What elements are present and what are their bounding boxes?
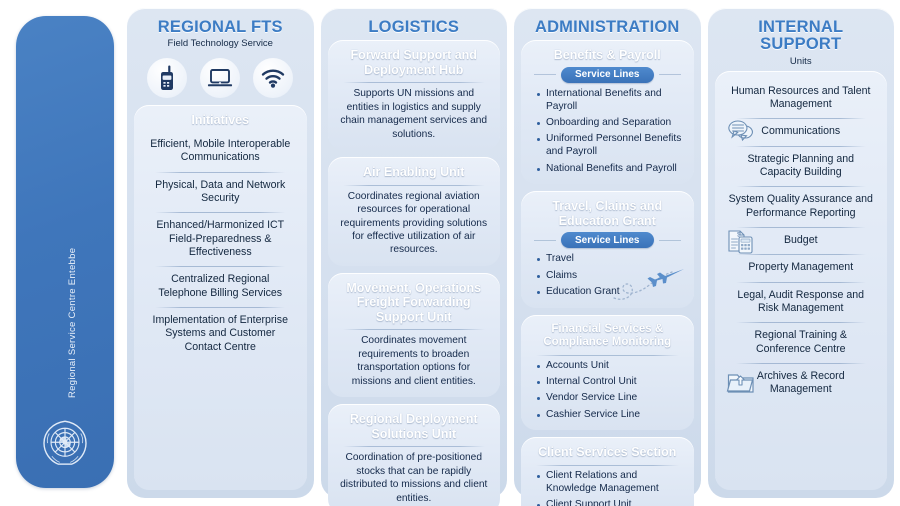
list-item: Human Resources and Talent Management: [724, 78, 879, 119]
divider: [659, 74, 681, 75]
list-item: System Quality Assurance and Performance…: [724, 186, 879, 227]
divider: [343, 446, 486, 447]
units-list: Human Resources and Talent Management Co…: [724, 78, 879, 404]
initiatives-card-title: Initiatives: [143, 112, 298, 131]
list-item: Communications: [724, 118, 879, 145]
column-administration: ADMINISTRATION Benefits & Payroll Servic…: [514, 8, 701, 498]
list-item: Enhanced/Harmonized ICT Field-Preparedne…: [143, 212, 298, 266]
list-item: Legal, Audit Response and Risk Managemen…: [724, 282, 879, 323]
card-body: Coordinates movement requirements to bro…: [337, 334, 492, 388]
radio-icon: [147, 58, 187, 98]
divider: [343, 82, 486, 83]
card-benefits-payroll: Benefits & Payroll Service Lines Interna…: [521, 40, 694, 184]
column-internal-support: INTERNAL SUPPORT Units Human Resources a…: [708, 8, 895, 498]
list-item-label: Communications: [761, 125, 840, 137]
brand-tagline: Regional Service Centre Entebbe: [67, 248, 78, 398]
list-item-label: Legal, Audit Response and Risk Managemen…: [737, 289, 864, 314]
list-item-label: Property Management: [748, 261, 853, 273]
speech-bubbles-icon: [726, 119, 760, 145]
list-item-label: Strategic Planning and Capacity Building: [747, 153, 854, 178]
list-item: Accounts Unit: [536, 360, 683, 373]
list-item: Regional Training & Conference Centre: [724, 322, 879, 363]
divider: [536, 355, 679, 356]
card-movement-operations-unit: Movement, Operations Freight Forwarding …: [328, 273, 501, 397]
list-item: Centralized Regional Telephone Billing S…: [143, 266, 298, 307]
list-item: Client Relations and Knowledge Managemen…: [536, 470, 683, 496]
list-item-label: Human Resources and Talent Management: [731, 85, 870, 110]
infographic-root: rsce SECTIONS Regional Service Centre En…: [0, 0, 900, 506]
list-item: Property Management: [724, 254, 879, 281]
list-item: Claims: [536, 270, 683, 283]
list-item: Uniformed Personnel Benefits and Payroll: [536, 133, 683, 159]
column-title: LOGISTICS: [330, 19, 499, 36]
list-item: Cashier Service Line: [536, 409, 683, 422]
fts-icon-row: [134, 58, 307, 98]
list-item: Implementation of Enterprise Systems and…: [143, 307, 298, 361]
card-body: Coordinates regional aviation resources …: [337, 190, 492, 257]
list-item: Onboarding and Separation: [536, 117, 683, 130]
divider: [343, 185, 486, 186]
budget-calculator-icon: $: [726, 227, 756, 255]
column-header: LOGISTICS: [328, 14, 501, 40]
list-item: Client Support Unit: [536, 499, 683, 506]
un-emblem-icon: [37, 416, 93, 472]
initiatives-list: Efficient, Mobile Interoperable Communic…: [143, 131, 298, 361]
bullet-list: Travel Claims Education Grant: [530, 253, 685, 299]
bullet-list: Client Relations and Knowledge Managemen…: [530, 470, 685, 506]
column-header: REGIONAL FTS Field Technology Service: [134, 14, 307, 53]
list-item: Travel: [536, 253, 683, 266]
card-heading: Benefits & Payroll: [530, 47, 685, 66]
list-item: Strategic Planning and Capacity Building: [724, 146, 879, 187]
internal-support-units-card: Human Resources and Talent Management Co…: [715, 71, 888, 490]
list-item: $ Budget: [724, 227, 879, 254]
column-title: REGIONAL FTS: [136, 19, 305, 36]
service-lines-badge-row: Service Lines: [534, 232, 681, 248]
card-heading: Forward Support and Deployment Hub: [337, 47, 492, 80]
list-item: International Benefits and Payroll: [536, 88, 683, 114]
card-financial-services: Financial Services & Compliance Monitori…: [521, 315, 694, 431]
card-body: Supports UN missions and entities in log…: [337, 87, 492, 141]
status-badge: Service Lines: [561, 232, 653, 248]
wifi-icon: [253, 58, 293, 98]
divider: [534, 74, 556, 75]
list-item-label: Regional Training & Conference Centre: [755, 329, 847, 354]
list-item-label: Archives & Record Management: [757, 370, 845, 395]
card-heading: Regional Deployment Solutions Unit: [337, 411, 492, 444]
list-item-label: System Quality Assurance and Performance…: [729, 193, 873, 218]
column-header: INTERNAL SUPPORT Units: [715, 14, 888, 71]
divider: [534, 240, 556, 241]
card-travel-claims-education: Travel, Claims and Education Grant Servi…: [521, 191, 694, 308]
initiatives-card: Initiatives Efficient, Mobile Interopera…: [134, 105, 307, 490]
laptop-icon: [200, 58, 240, 98]
column-title: ADMINISTRATION: [523, 19, 692, 36]
column-header: ADMINISTRATION: [521, 14, 694, 40]
list-item: Archives & Record Management: [724, 363, 879, 404]
archive-folder-icon: [726, 369, 758, 397]
service-lines-badge-row: Service Lines: [534, 67, 681, 83]
column-title: INTERNAL SUPPORT: [717, 19, 886, 54]
list-item: Efficient, Mobile Interoperable Communic…: [143, 131, 298, 172]
list-item-label: Budget: [784, 234, 818, 246]
card-heading: Financial Services & Compliance Monitori…: [530, 322, 685, 353]
card-client-services-section: Client Services Section Client Relations…: [521, 437, 694, 506]
list-item: Vendor Service Line: [536, 392, 683, 405]
brand-sidebar: rsce SECTIONS Regional Service Centre En…: [16, 16, 114, 488]
list-item: Education Grant: [536, 286, 683, 299]
card-forward-support-hub: Forward Support and Deployment Hub Suppo…: [328, 40, 501, 150]
card-regional-deployment-unit: Regional Deployment Solutions Unit Coord…: [328, 404, 501, 506]
status-badge: Service Lines: [561, 67, 653, 83]
list-item: Physical, Data and Network Security: [143, 172, 298, 213]
card-heading: Travel, Claims and Education Grant: [530, 198, 685, 231]
card-body: Coordination of pre-positioned stocks th…: [337, 451, 492, 505]
divider: [343, 329, 486, 330]
divider: [659, 240, 681, 241]
list-item: National Benefits and Payroll: [536, 163, 683, 176]
divider: [536, 465, 679, 466]
column-subtitle: Units: [717, 56, 886, 67]
column-regional-fts: REGIONAL FTS Field Technology Service: [127, 8, 314, 498]
list-item: Internal Control Unit: [536, 376, 683, 389]
bullet-list: International Benefits and Payroll Onboa…: [530, 88, 685, 176]
card-heading: Client Services Section: [530, 444, 685, 463]
column-logistics: LOGISTICS Forward Support and Deployment…: [321, 8, 508, 498]
card-heading: Movement, Operations Freight Forwarding …: [337, 280, 492, 328]
card-heading: Air Enabling Unit: [337, 164, 492, 183]
column-subtitle: Field Technology Service: [136, 38, 305, 49]
card-air-enabling-unit: Air Enabling Unit Coordinates regional a…: [328, 157, 501, 266]
bullet-list: Accounts Unit Internal Control Unit Vend…: [530, 360, 685, 422]
